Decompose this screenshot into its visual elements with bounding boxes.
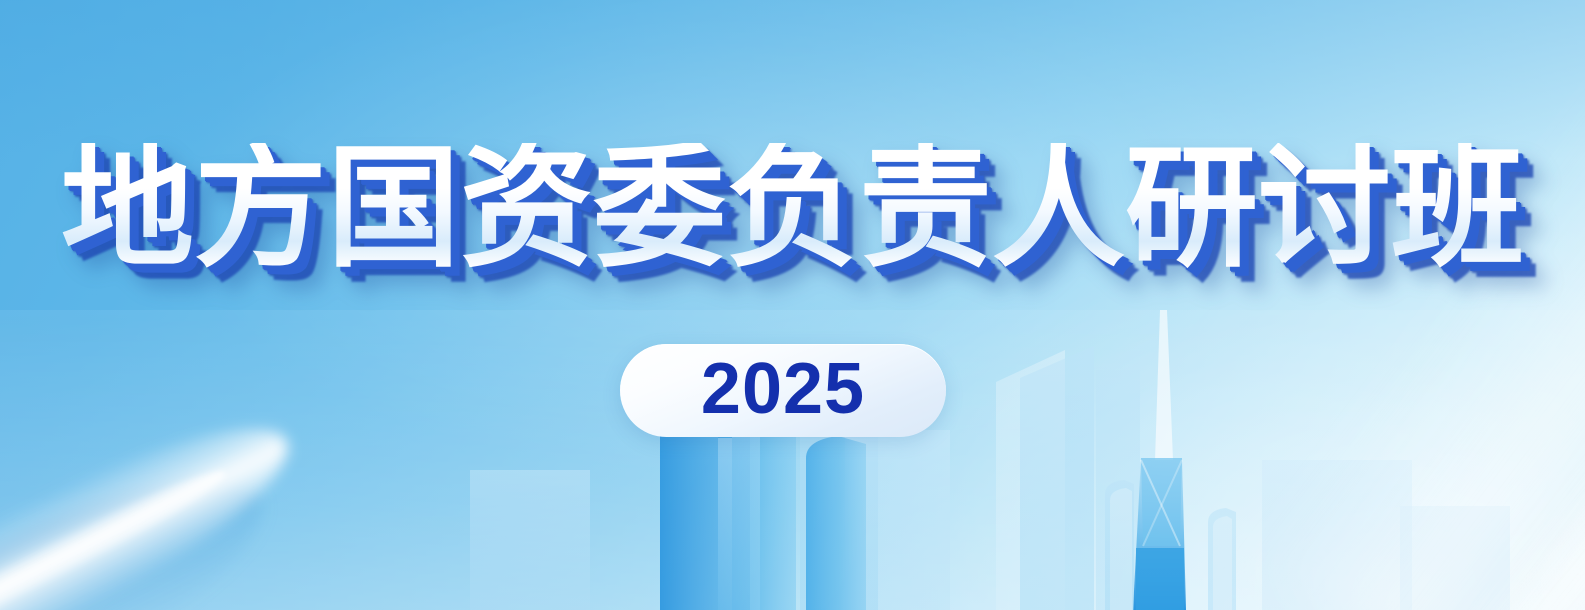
light-beam-top-right-secondary-icon [1531, 0, 1585, 610]
swoosh-shadow-icon [0, 430, 293, 610]
swoosh-highlight-icon [0, 457, 233, 610]
sky-gradient-background [0, 0, 1585, 610]
year-badge-label: 2025 [701, 353, 865, 425]
year-badge: 2025 [620, 344, 946, 437]
sky-vertical-shade [0, 0, 1585, 610]
banner-root: 地方国资委负责人研讨班 2025 [0, 0, 1585, 610]
banner-title-text: 地方国资委负责人研讨班 [61, 143, 1524, 276]
light-swoosh-bottom-left [0, 400, 330, 610]
corner-glow-bottom-right [0, 0, 1585, 610]
swoosh-glow-icon [0, 387, 313, 610]
banner-title: 地方国资委负责人研讨班 [0, 143, 1585, 276]
skyline-right-tower [1020, 310, 1236, 610]
light-beam-top-right-icon [1250, 0, 1585, 610]
center-glow [0, 0, 1585, 610]
